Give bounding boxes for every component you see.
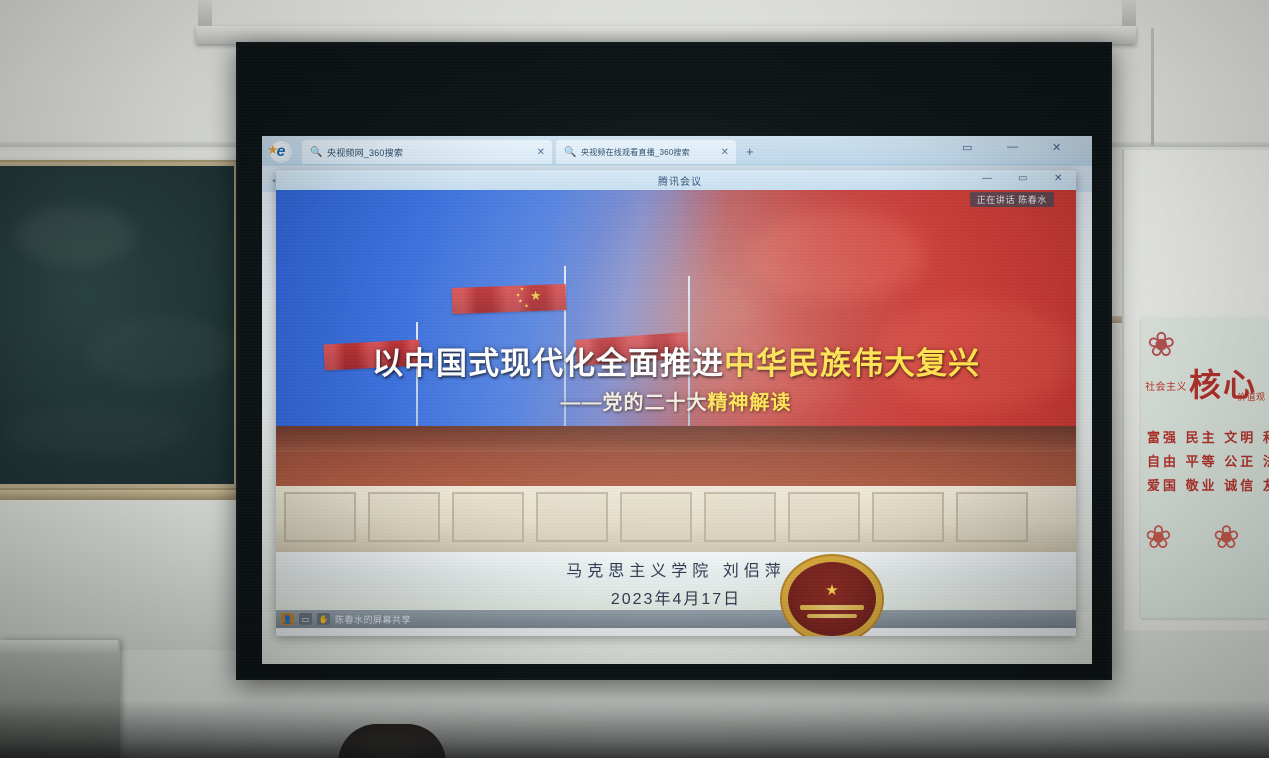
poster-suffix-text: 价值观 [1237, 390, 1269, 403]
poster-values-row-1: 富强 民主 文明 和谐 [1147, 426, 1269, 450]
projector-screen: e 🔍 央视频网_360搜索 ✕ 🔍 央视频在线观看直播_360搜索 ✕ + ▭… [236, 42, 1112, 680]
slide-title: 以中国式现代化全面推进中华民族伟大复兴 [276, 338, 1076, 383]
screen-bracket-left [198, 0, 212, 26]
slide-title-white: 以中国式现代化全面推进 [372, 346, 724, 382]
slide-presenter: 马克思主义学院 刘侣萍 [276, 557, 1076, 581]
projector-screen-cord[interactable] [1151, 28, 1154, 146]
core-values-poster: ❀ 核心 社会主义 价值观 富强 民主 文明 和谐 自由 平等 公正 法治 爱国… [1141, 318, 1269, 618]
slide-date: 2023年4月17日 [276, 585, 1076, 609]
slide-subtitle: ——党的二十大精神解读 [276, 386, 1076, 415]
lower-wall-left [0, 500, 238, 650]
poster-ornament-right-icon: ❀ [1213, 518, 1259, 564]
classroom-scene: ❀ 核心 社会主义 价值观 富强 民主 文明 和谐 自由 平等 公正 法治 爱国… [0, 0, 1269, 758]
slide-title-yellow: 中华民族伟大复兴 [724, 346, 980, 382]
blackboard-left [0, 160, 240, 490]
emblem-bar-bottom [807, 614, 856, 618]
floor-shadow [0, 700, 1269, 758]
front-desk-top [0, 640, 118, 656]
slide-subtitle-yellow: 精神解读 [708, 392, 792, 414]
poster-values: 富强 民主 文明 和谐 自由 平等 公正 法治 爱国 敬业 诚信 友善 [1147, 426, 1269, 498]
chalk-ledge-left [0, 490, 242, 500]
slide-subtitle-white: ——党的二十大 [561, 392, 708, 414]
active-speaker-badge: 正在讲话 陈春水 [970, 192, 1054, 207]
screen-bracket-right [1122, 0, 1136, 26]
poster-values-row-3: 爱国 敬业 诚信 友善 [1147, 474, 1269, 498]
poster-values-row-2: 自由 平等 公正 法治 [1147, 450, 1269, 474]
blackboard-left-surface [0, 166, 234, 484]
poster-ornament-left-icon: ❀ [1145, 518, 1191, 564]
